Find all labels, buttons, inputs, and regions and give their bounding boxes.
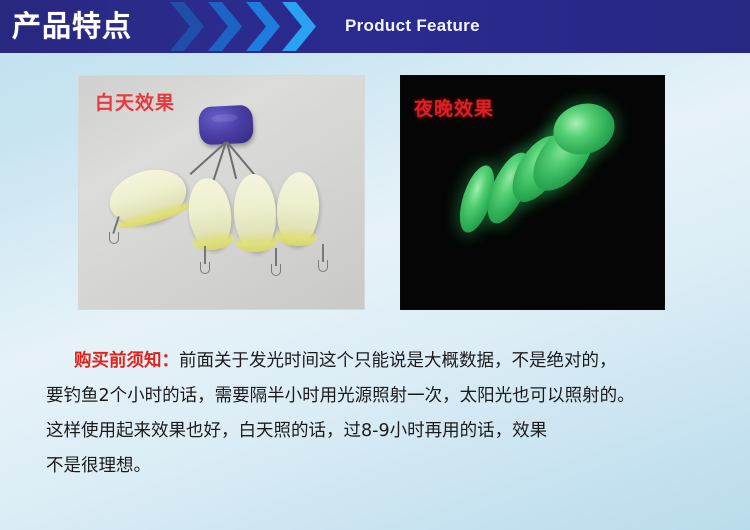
notice-line-1: 购买前须知：前面关于发光时间这个只能说是大概数据，不是绝对的， xyxy=(46,344,726,379)
banner-title-en: Product Feature xyxy=(345,16,480,36)
night-label: 夜晚效果 xyxy=(414,94,494,121)
float-body-4 xyxy=(274,171,321,248)
daytime-label: 白天效果 xyxy=(95,88,175,115)
banner-title-cn: 产品特点 xyxy=(12,6,132,46)
float-body-2 xyxy=(185,176,235,253)
float-tip-2 xyxy=(191,229,235,253)
notice-line-3: 这样使用起来效果也好，白天照的话，过8-9小时再用的话，效果 xyxy=(46,414,726,449)
purple-clip-holder xyxy=(198,105,254,146)
float-body-3 xyxy=(232,173,278,253)
hook-1 xyxy=(109,232,119,244)
product-feature-page: 产品特点 Product Feature 白天效果 xyxy=(0,0,750,530)
header-banner: 产品特点 Product Feature xyxy=(0,0,750,53)
hook-4 xyxy=(318,260,328,272)
chevron-right-icon-2 xyxy=(208,2,242,51)
float-tip-1 xyxy=(114,198,193,232)
notice-line-2: 要钓鱼2个小时的话，需要隔半小时用光源照射一次，太阳光也可以照射的。 xyxy=(46,379,726,414)
notice-line-4: 不是很理想。 xyxy=(46,449,726,484)
notice-line-1-rest: 前面关于发光时间这个只能说是大概数据，不是绝对的， xyxy=(179,351,617,371)
chevron-right-icon-3 xyxy=(246,2,280,51)
daytime-effect-image: 白天效果 xyxy=(78,75,365,310)
notice-heading: 购买前须知： xyxy=(74,351,179,371)
hook-3 xyxy=(271,264,281,276)
purchase-notice-text: 购买前须知：前面关于发光时间这个只能说是大概数据，不是绝对的， 要钓鱼2个小时的… xyxy=(46,344,726,484)
chevron-right-icon-1 xyxy=(170,2,204,51)
float-tip-3 xyxy=(235,231,278,253)
float-tip-4 xyxy=(274,225,317,247)
night-effect-image: 夜晚效果 xyxy=(400,75,665,310)
chevron-right-icon-4 xyxy=(282,2,316,51)
hook-2 xyxy=(200,262,210,274)
